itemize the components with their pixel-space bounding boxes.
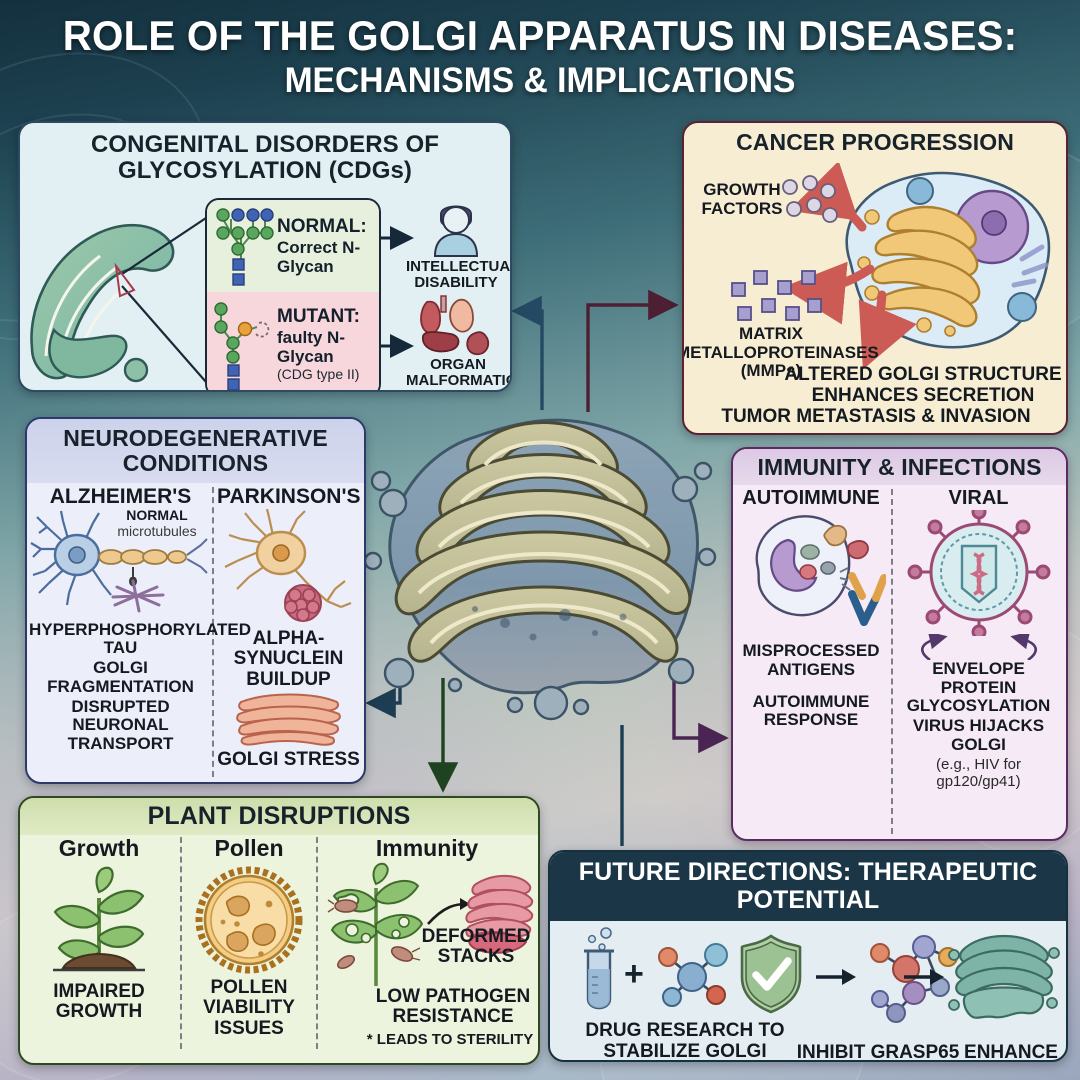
future-step-3-wrap: ENHANCE AUTOPHAGY bbox=[954, 1043, 1068, 1062]
cancer-mmp-line-1: MATRIX bbox=[682, 325, 866, 343]
golgi-stress-stack-icon bbox=[233, 692, 345, 748]
growth-factor-particles-icon bbox=[780, 175, 842, 225]
immunity-autoimmune-column: AUTOIMMUNE bbox=[733, 487, 889, 729]
neuro-left-step-2: GOLGI FRAGMENTATION bbox=[29, 659, 212, 696]
immunity-viral-column: VIRAL bbox=[896, 487, 1061, 790]
mmp-particles-icon bbox=[726, 267, 836, 327]
neuro-alzheimers-column: ALZHEIMER'S bbox=[29, 485, 212, 754]
neuro-right-title: PARKINSON'S bbox=[217, 485, 360, 509]
cdg-callout-lines bbox=[110, 200, 220, 390]
neuro-heading: NEURODEGENERATIVE CONDITIONS bbox=[27, 419, 364, 483]
immunity-right-note-1: (e.g., HIV for bbox=[896, 756, 1061, 773]
parkinsons-neuron-icon bbox=[219, 509, 359, 627]
plant-col3-text-b: LOW PATHOGEN RESISTANCE bbox=[372, 987, 534, 1028]
microtubule-label-micro: microtubules bbox=[105, 523, 209, 539]
future-step-1: DRUG RESEARCH TO STABILIZE GOLGI STRUCTU… bbox=[548, 1021, 824, 1062]
future-step-2-wrap: INHIBIT GRASP65 PHOSPHORYLATION bbox=[794, 1043, 962, 1062]
future-arrow-1 bbox=[814, 965, 858, 989]
golgi-apparatus-central-illustration bbox=[355, 385, 725, 735]
panel-neurodegenerative-conditions[interactable]: NEURODEGENERATIVE CONDITIONS ALZHEIMER'S bbox=[25, 417, 366, 784]
seedling-icon bbox=[29, 862, 169, 982]
cdg-outcome-2-label: ORGAN MALFORMATIONS bbox=[406, 357, 510, 389]
panel-immunity-and-infections[interactable]: IMMUNITY & INFECTIONS AUTOIMMUNE bbox=[731, 447, 1068, 841]
normal-n-glycan-icon bbox=[207, 203, 277, 289]
cancer-outcomes: ALTERED GOLGI STRUCTURE ENHANCES SECRETI… bbox=[784, 365, 1062, 406]
immunity-right-title: VIRAL bbox=[896, 487, 1061, 510]
plant-col1-title: Growth bbox=[20, 835, 178, 862]
cancer-outcome-2: ENHANCES SECRETION bbox=[784, 386, 1062, 407]
virus-particle-icon bbox=[904, 510, 1054, 636]
immunity-left-step-2: AUTOIMMUNE RESPONSE bbox=[733, 693, 889, 730]
child-person-icon bbox=[421, 196, 491, 258]
neuro-parkinsons-column: PARKINSON'S ALPHA-SYNUCLEIN bbox=[217, 485, 360, 771]
cdg-normal-label: NORMAL: bbox=[277, 216, 375, 238]
panel-future-directions[interactable]: FUTURE DIRECTIONS: THERAPEUTIC POTENTIAL… bbox=[548, 850, 1068, 1062]
plant-divider-1 bbox=[180, 837, 182, 1049]
neuro-left-step-3: DISRUPTED NEURONAL TRANSPORT bbox=[29, 698, 212, 753]
immunity-right-note-2: gp120/gp41) bbox=[896, 773, 1061, 790]
neuro-right-step-1: ALPHA-SYNUCLEIN BUILDUP bbox=[217, 629, 360, 691]
plant-col2-text: POLLEN VIABILITY ISSUES bbox=[185, 978, 313, 1040]
neuro-microtubule-labels: NORMAL microtubules bbox=[105, 507, 209, 539]
infographic-title: ROLE OF THE GOLGI APPARATUS IN DISEASES:… bbox=[0, 14, 1080, 101]
immunity-left-title: AUTOIMMUNE bbox=[733, 487, 889, 510]
plant-pollen-column: Pollen P bbox=[185, 835, 313, 1040]
cancer-outcome-1: ALTERED GOLGI STRUCTURE bbox=[784, 365, 1062, 386]
neuro-left-step-1: HYPERPHOSPHORYLATED TAU bbox=[29, 621, 212, 658]
plant-heading: PLANT DISRUPTIONS bbox=[20, 798, 538, 835]
title-line-1: ROLE OF THE GOLGI APPARATUS IN DISEASES: bbox=[22, 14, 1059, 59]
immunity-right-step-1: ENVELOPE PROTEIN GLYCOSYLATION bbox=[896, 660, 1061, 715]
future-step-1-wrap: DRUG RESEARCH TO STABILIZE GOLGI STRUCTU… bbox=[548, 1021, 824, 1062]
panel-cancer-progression[interactable]: CANCER PROGRESSION bbox=[682, 121, 1068, 435]
antigen-presenting-cell-icon bbox=[736, 510, 886, 636]
golgi-autophagy-icon bbox=[948, 927, 1060, 1025]
cdg-mutant-label: MUTANT: bbox=[277, 306, 375, 328]
neuro-right-step-2: GOLGI STRESS bbox=[217, 750, 360, 771]
future-heading: FUTURE DIRECTIONS: THERAPEUTIC POTENTIAL bbox=[550, 852, 1066, 921]
cancer-mmp-line-2: METALLOPROTEINASES bbox=[682, 344, 866, 362]
viral-converging-arrows bbox=[900, 634, 1058, 660]
panel-congenital-disorders-of-glycosylation[interactable]: CONGENITAL DISORDERS OF GLYCOSYLATION (C… bbox=[18, 121, 512, 392]
shield-check-icon bbox=[736, 933, 806, 1015]
plant-col1-text: IMPAIRED GROWTH bbox=[20, 982, 178, 1023]
mutant-n-glycan-icon bbox=[207, 297, 277, 391]
microtubule-label-normal: NORMAL bbox=[105, 507, 209, 523]
panel-plant-disruptions[interactable]: PLANT DISRUPTIONS Growth IMPAIRED GROWTH bbox=[18, 796, 540, 1065]
cdg-mutant-note: (CDG type II) bbox=[277, 366, 375, 382]
cancer-heading: CANCER PROGRESSION bbox=[684, 123, 1066, 159]
title-line-2: MECHANISMS & IMPLICATIONS bbox=[22, 61, 1059, 101]
infographic-canvas: ROLE OF THE GOLGI APPARATUS IN DISEASES:… bbox=[0, 0, 1080, 1080]
cancer-outcome-3: TUMOR METASTASIS & INVASION bbox=[690, 407, 1062, 428]
organs-icon bbox=[415, 294, 501, 356]
cancer-outcome-3-wrap: TUMOR METASTASIS & INVASION bbox=[690, 407, 1062, 428]
future-plus-symbol: + bbox=[624, 955, 644, 994]
immunity-left-step-1: MISPROCESSED ANTIGENS bbox=[733, 642, 889, 679]
immunity-column-divider bbox=[891, 489, 893, 834]
plant-growth-column: Growth IMPAIRED GROWTH bbox=[20, 835, 178, 1023]
plant-col3-text-a: DEFORMED STACKS bbox=[418, 927, 534, 968]
future-arrow-2 bbox=[902, 965, 946, 989]
future-step-2: INHIBIT GRASP65 PHOSPHORYLATION bbox=[794, 1043, 962, 1062]
future-step-3: ENHANCE AUTOPHAGY bbox=[954, 1043, 1068, 1062]
cdg-heading: CONGENITAL DISORDERS OF GLYCOSYLATION (C… bbox=[20, 123, 510, 190]
cdg-outcome-2: ORGAN MALFORMATIONS bbox=[406, 294, 510, 389]
plant-col3-title: Immunity bbox=[320, 835, 534, 862]
cdg-mutant-text: faulty N-Glycan bbox=[277, 328, 375, 366]
pollen-grain-icon bbox=[193, 864, 305, 976]
plant-col2-title: Pollen bbox=[185, 835, 313, 862]
cdg-normal-text: Correct N-Glycan bbox=[277, 238, 375, 276]
cdg-outcome-1-label: INTELLECTUAL DISABILITY bbox=[406, 259, 506, 291]
cdg-glycan-comparison-box: NORMAL: Correct N-Glycan bbox=[205, 198, 381, 392]
neuro-left-title: ALZHEIMER'S bbox=[29, 485, 212, 509]
immunity-heading: IMMUNITY & INFECTIONS bbox=[733, 449, 1066, 485]
plant-footnote: * LEADS TO STERILITY bbox=[364, 1031, 536, 1048]
cdg-mutant-row: MUTANT: faulty N-Glycan (CDG type II) bbox=[207, 292, 379, 392]
plant-divider-2 bbox=[316, 837, 318, 1049]
immunity-right-step-2: VIRUS HIJACKS GOLGI bbox=[896, 717, 1061, 754]
cdg-normal-row: NORMAL: Correct N-Glycan bbox=[207, 200, 379, 292]
molecule-icon-1 bbox=[650, 935, 734, 1013]
cdg-outcome-1: INTELLECTUAL DISABILITY bbox=[406, 196, 506, 291]
plant-immunity-column: Immunity bbox=[320, 835, 534, 994]
